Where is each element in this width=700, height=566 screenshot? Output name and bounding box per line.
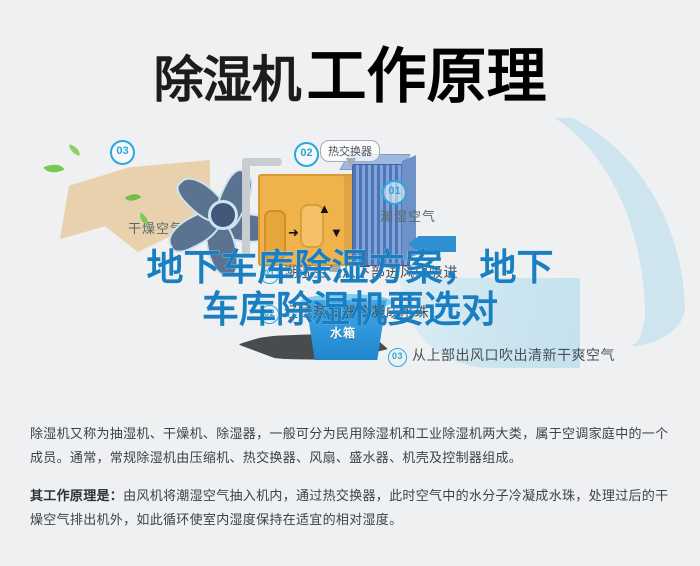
callout-tail-icon (346, 158, 356, 168)
flow-arrow-icon: ➜ (288, 226, 299, 239)
refrigerant-pipe (242, 158, 282, 166)
caption-text-01: 潮湿空气从下部进风口吸进 (284, 264, 458, 280)
caption-step-02: 02经过蒸发器冷凝成水珠 (260, 302, 429, 324)
caption-step-01: 01潮湿空气从下部进风口吸进 (260, 262, 458, 284)
badge-03: 03 (110, 140, 135, 165)
leaf-icon (44, 160, 65, 178)
flow-arrow-icon: ▼ (330, 226, 343, 239)
body-paragraph-1: 除湿机又称为抽湿机、干燥机、除湿器，一般可分为民用除湿机和工业除湿机两大类，属于… (30, 422, 670, 470)
title-part-2: 工作原理 (307, 43, 547, 110)
leaf-icon (67, 144, 82, 156)
badge-01: 01 (382, 180, 407, 205)
body-paragraph-2-rest: 由风机将潮湿空气抽入机内，通过热交换器，此时空气中的水分子冷凝成水珠，处理过后的… (30, 488, 668, 527)
compressor-cylinder (264, 210, 286, 260)
caption-text-02: 经过蒸发器冷凝成水珠 (284, 304, 429, 320)
refrigerant-pipe (242, 158, 250, 258)
page-root: 除湿机工作原理 干燥空气 ▲ ➜ ▼ (0, 0, 700, 566)
caption-badge-01: 01 (260, 265, 279, 284)
body-paragraph-2: 其工作原理是：由风机将潮湿空气抽入机内，通过热交换器，此时空气中的水分子冷凝成水… (30, 484, 670, 532)
water-tank-label: 水箱 (330, 324, 356, 341)
caption-text-03: 从上部出风口吹出清新干爽空气 (412, 347, 615, 363)
caption-badge-03: 03 (388, 348, 407, 367)
flow-arrow-icon: ▲ (318, 202, 331, 215)
body-paragraph-2-lead: 其工作原理是： (30, 488, 123, 503)
humid-air-label: 潮湿空气 (380, 206, 436, 225)
article-body: 除湿机又称为抽湿机、干燥机、除湿器，一般可分为民用除湿机和工业除湿机两大类，属于… (30, 422, 670, 546)
title-part-1: 除湿机 (154, 52, 301, 108)
badge-02: 02 (294, 142, 319, 167)
fan-hub (208, 200, 238, 230)
page-title: 除湿机工作原理 (0, 28, 700, 115)
caption-badge-02: 02 (260, 305, 279, 324)
caption-step-03: 03从上部出风口吹出清新干爽空气 (388, 345, 615, 367)
